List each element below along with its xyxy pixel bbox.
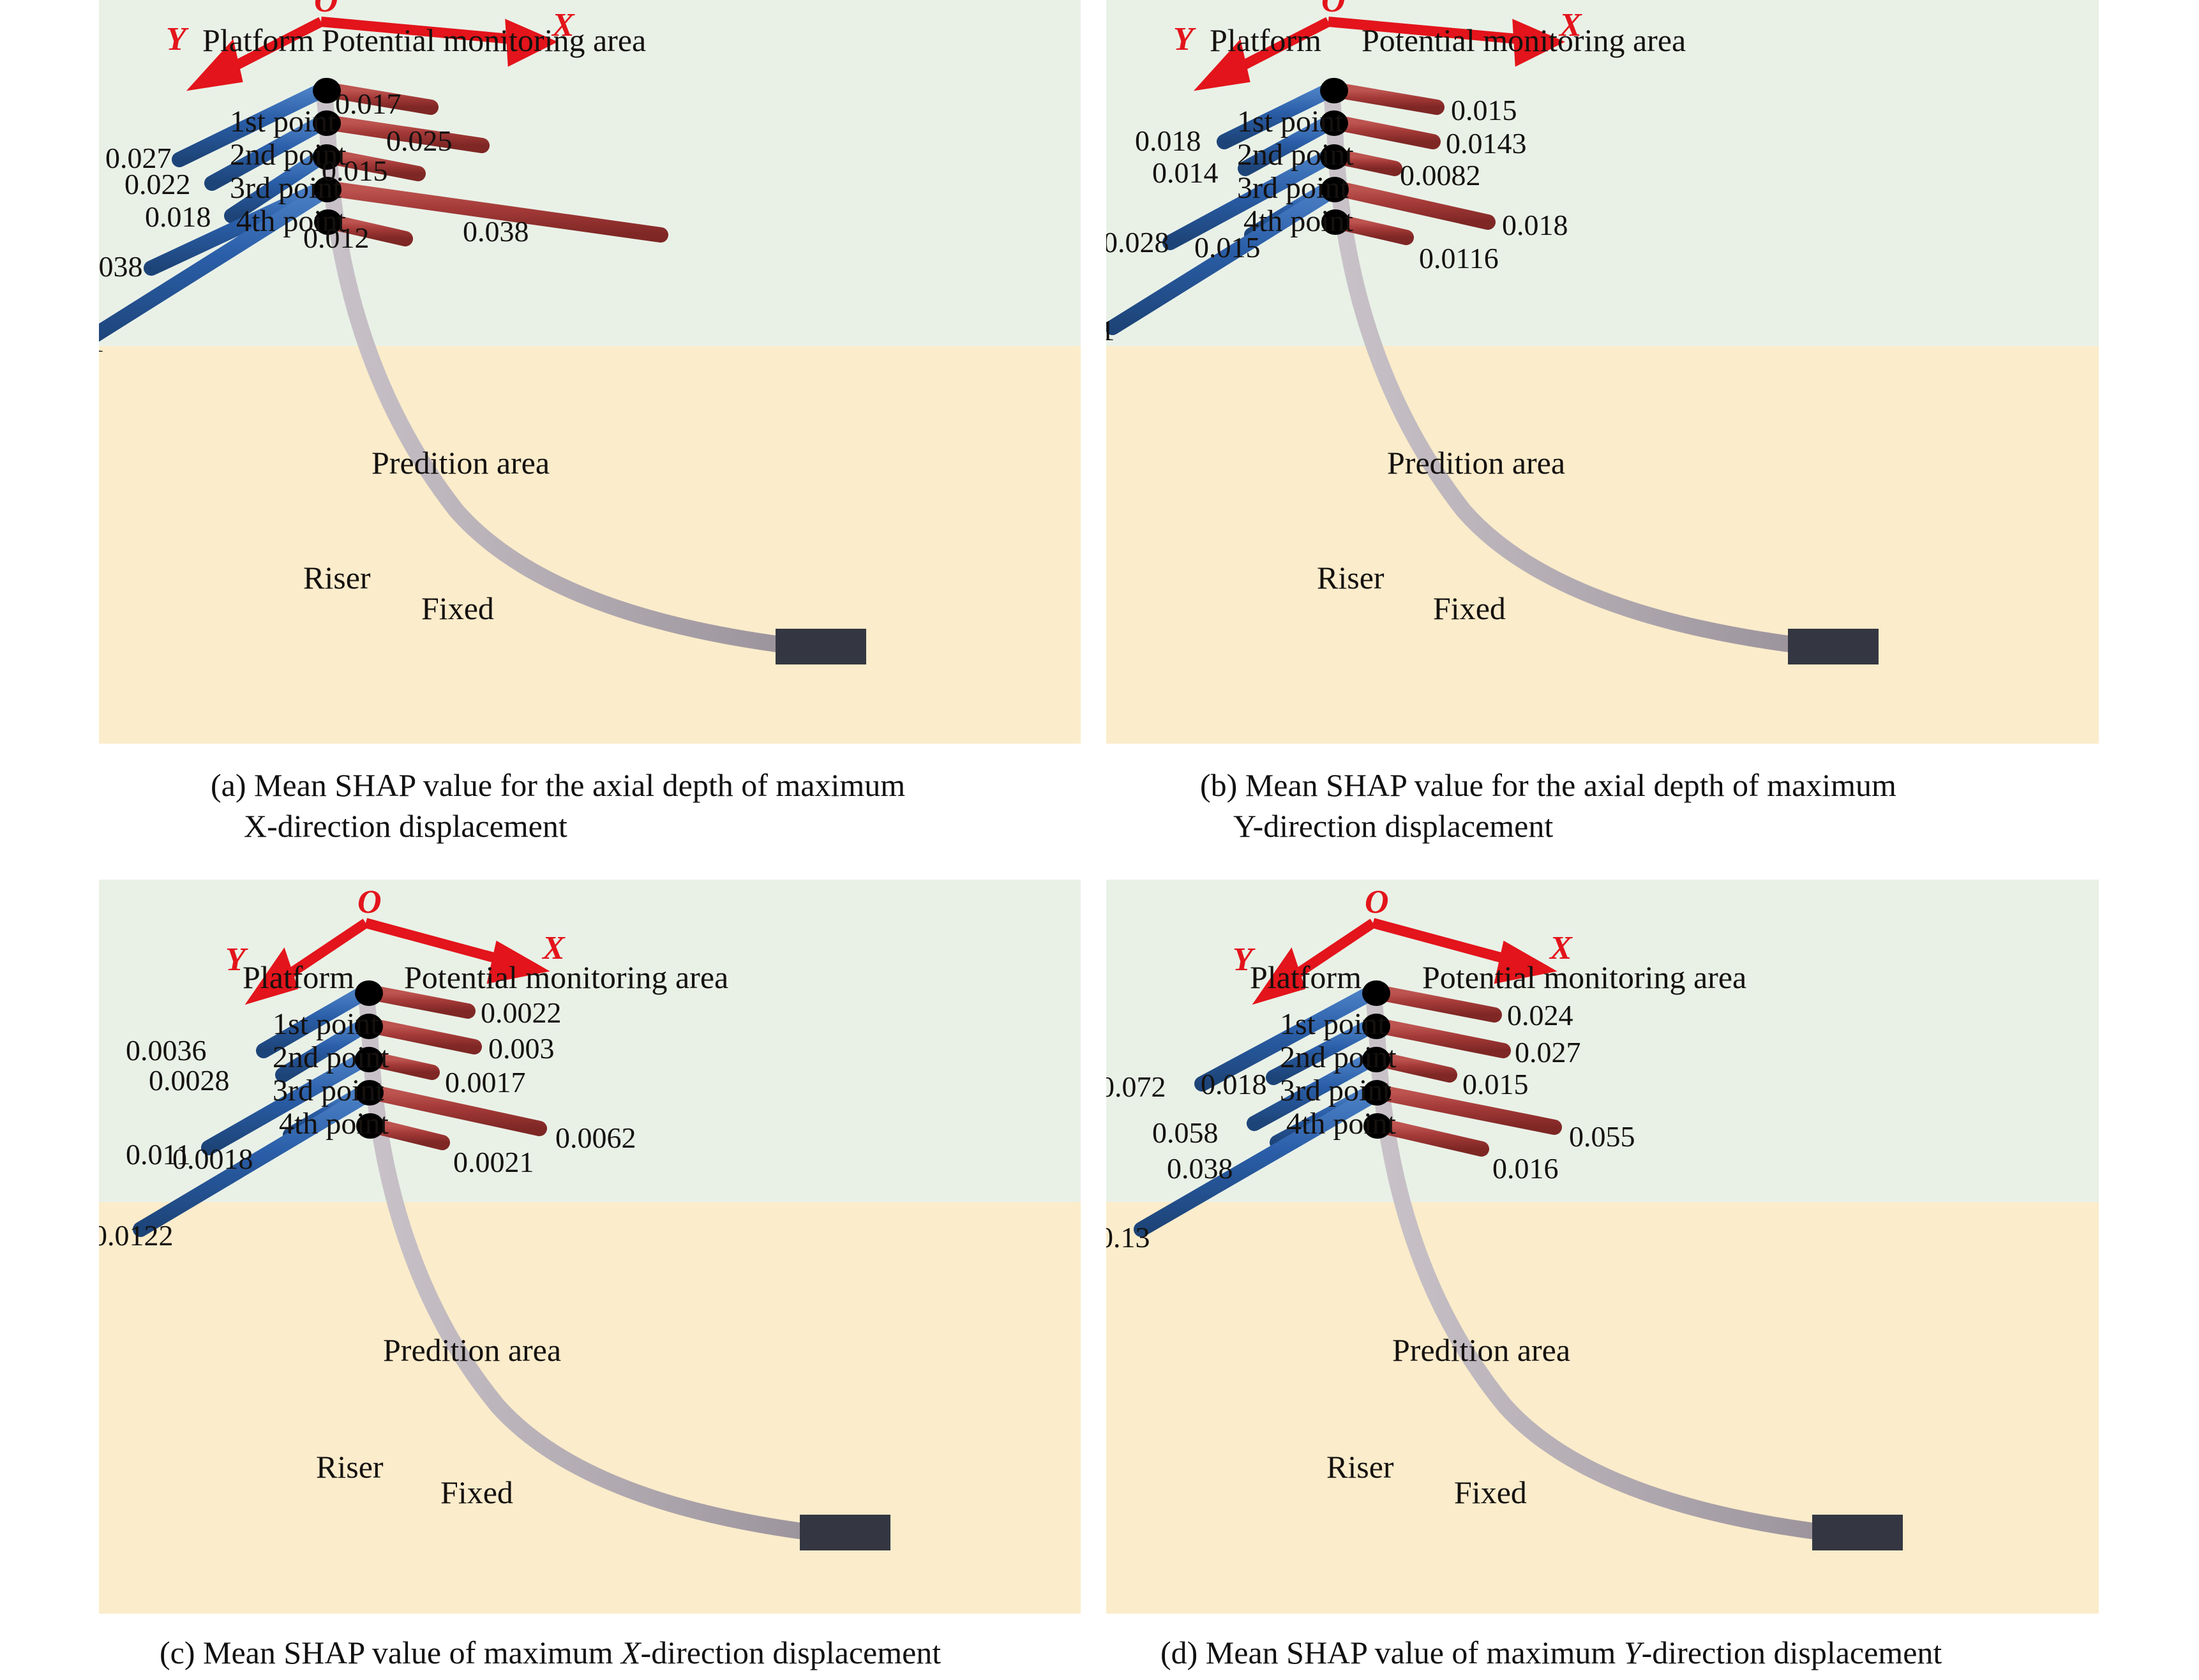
fixed-label-c: Fixed bbox=[440, 1476, 513, 1508]
caption-c-post: -direction displacement bbox=[641, 1635, 942, 1670]
blue-value-c-5: 0.0122 bbox=[99, 1221, 174, 1250]
red-value-b-3: 0.0082 bbox=[1400, 161, 1481, 190]
caption-d: (d) Mean SHAP value of maximum Y-directi… bbox=[1160, 1634, 1942, 1671]
platform-label-d: Platform bbox=[1250, 961, 1362, 993]
point-label-d-2: 2nd point bbox=[1280, 1042, 1397, 1073]
red-value-d-4: 0.055 bbox=[1569, 1122, 1635, 1151]
red-value-c-4: 0.0062 bbox=[555, 1123, 636, 1153]
red-value-a-2: 0.025 bbox=[386, 126, 453, 156]
point-label-d-4: 4th point bbox=[1286, 1109, 1396, 1139]
panel-a: O X Y Platform Potential monitoring area… bbox=[99, 0, 1081, 744]
monitoring-area-label-d: Potential monitoring area bbox=[1422, 961, 1746, 993]
red-value-b-2: 0.0143 bbox=[1446, 129, 1527, 158]
blue-value-a-3: 0.018 bbox=[145, 202, 211, 232]
prediction-area-label-c: Predition area bbox=[383, 1334, 561, 1366]
blue-value-b-2: 0.014 bbox=[1152, 158, 1219, 188]
caption-c-pre: (c) Mean SHAP value of maximum bbox=[160, 1635, 621, 1670]
riser-label-b: Riser bbox=[1317, 562, 1385, 594]
blue-value-d-5: 0.13 bbox=[1106, 1223, 1150, 1252]
caption-d-post: -direction displacement bbox=[1642, 1635, 1942, 1670]
riser-label-a: Riser bbox=[303, 562, 371, 594]
axis-origin-label-a: O bbox=[314, 0, 338, 18]
blue-value-d-1: 0.072 bbox=[1106, 1072, 1166, 1102]
caption-a-line2: X-direction displacement bbox=[211, 806, 905, 846]
blue-value-d-4: 0.038 bbox=[1167, 1154, 1233, 1183]
point-label-d-3: 3rd point bbox=[1280, 1076, 1392, 1106]
blue-value-c-4: 0.0018 bbox=[172, 1144, 253, 1174]
panel-c: O X Y Platform Potential monitoring area… bbox=[99, 880, 1081, 1614]
red-value-c-5: 0.0021 bbox=[453, 1148, 534, 1177]
blue-value-a-4: 0.038 bbox=[99, 252, 143, 281]
caption-b-line2: Y-direction displacement bbox=[1200, 806, 1896, 846]
red-value-a-5: 0.012 bbox=[303, 223, 370, 253]
fixed-label-a: Fixed bbox=[421, 592, 494, 624]
riser-label-d: Riser bbox=[1326, 1451, 1394, 1483]
blue-value-d-2: 0.018 bbox=[1201, 1070, 1267, 1099]
red-value-d-1: 0.024 bbox=[1507, 1001, 1573, 1030]
caption-a-axis-token: X bbox=[244, 808, 267, 844]
point-label-c-4: 4th point bbox=[279, 1109, 389, 1139]
fixed-label-b: Fixed bbox=[1433, 592, 1506, 624]
blue-value-a-5: 0.061 bbox=[99, 327, 105, 357]
point-label-c-1: 1st point bbox=[273, 1009, 379, 1040]
caption-b: (b) Mean SHAP value for the axial depth … bbox=[1200, 765, 1896, 846]
point-label-d-1: 1st point bbox=[1280, 1009, 1386, 1040]
point-label-c-2: 2nd point bbox=[273, 1042, 389, 1073]
fixed-block-b bbox=[1788, 629, 1879, 664]
point-label-a-1: 1st point bbox=[230, 107, 336, 137]
prediction-area-label-a: Predition area bbox=[372, 447, 550, 479]
point-label-b-3: 3rd point bbox=[1237, 173, 1349, 204]
red-value-a-1: 0.017 bbox=[335, 89, 402, 119]
blue-value-b-4: 0.015 bbox=[1194, 233, 1261, 262]
caption-a: (a) Mean SHAP value for the axial depth … bbox=[211, 765, 905, 846]
blue-value-c-2: 0.0028 bbox=[149, 1066, 230, 1095]
blue-value-d-3: 0.058 bbox=[1152, 1118, 1219, 1148]
red-value-a-4: 0.038 bbox=[463, 217, 529, 246]
prediction-area-label-b: Predition area bbox=[1387, 447, 1565, 479]
axis-y-label-b: Y bbox=[1173, 23, 1194, 56]
red-value-c-2: 0.003 bbox=[488, 1034, 555, 1063]
axis-origin-label-d: O bbox=[1365, 886, 1389, 919]
axis-origin-label-c: O bbox=[357, 886, 382, 919]
caption-b-line1: (b) Mean SHAP value for the axial depth … bbox=[1200, 765, 1896, 806]
monitoring-area-label-a: Potential monitoring area bbox=[322, 24, 646, 56]
caption-a-line2-rest: -direction displacement bbox=[267, 808, 567, 844]
caption-c: (c) Mean SHAP value of maximum X-directi… bbox=[160, 1634, 941, 1671]
point-label-b-2: 2nd point bbox=[1237, 140, 1354, 170]
platform-label-a: Platform bbox=[202, 24, 314, 56]
riser-label-c: Riser bbox=[316, 1451, 384, 1483]
point-label-c-3: 3rd point bbox=[273, 1076, 384, 1106]
red-value-c-1: 0.0022 bbox=[481, 998, 562, 1028]
blue-value-b-1: 0.018 bbox=[1135, 126, 1201, 156]
figure-root: O X Y Platform Potential monitoring area… bbox=[0, 0, 2199, 1680]
fixed-label-d: Fixed bbox=[1454, 1476, 1527, 1508]
fixed-block-d bbox=[1812, 1515, 1903, 1550]
prediction-area-label-d: Predition area bbox=[1392, 1334, 1570, 1366]
caption-d-pre: (d) Mean SHAP value of maximum bbox=[1160, 1635, 1624, 1670]
caption-a-line1: (a) Mean SHAP value for the axial depth … bbox=[211, 765, 905, 806]
red-value-d-5: 0.016 bbox=[1492, 1154, 1559, 1183]
red-value-b-5: 0.0116 bbox=[1419, 244, 1499, 273]
panel-d: O X Y Platform Potential monitoring area… bbox=[1106, 880, 2099, 1614]
monitoring-area-label-b: Potential monitoring area bbox=[1362, 24, 1686, 56]
fixed-block-c bbox=[800, 1515, 890, 1550]
blue-value-c-1: 0.0036 bbox=[126, 1036, 207, 1065]
panel-b: O X Y Platform Potential monitoring area… bbox=[1106, 0, 2099, 744]
red-value-b-4: 0.018 bbox=[1502, 211, 1568, 240]
axis-origin-label-b: O bbox=[1321, 0, 1346, 18]
red-value-a-3: 0.015 bbox=[322, 156, 388, 186]
blue-value-b-3: 0.028 bbox=[1106, 228, 1169, 257]
red-value-d-3: 0.015 bbox=[1462, 1070, 1529, 1099]
blue-value-b-5: 0.041 bbox=[1106, 316, 1115, 345]
caption-d-axis-token: Y bbox=[1624, 1635, 1642, 1670]
red-value-b-1: 0.015 bbox=[1451, 96, 1517, 125]
caption-c-axis-token: X bbox=[621, 1635, 641, 1670]
red-value-c-3: 0.0017 bbox=[445, 1068, 526, 1097]
point-label-b-1: 1st point bbox=[1237, 107, 1344, 137]
axis-y-label-a: Y bbox=[166, 23, 186, 56]
blue-value-a-2: 0.022 bbox=[124, 170, 191, 199]
red-value-d-2: 0.027 bbox=[1515, 1038, 1581, 1067]
monitoring-area-label-c: Potential monitoring area bbox=[404, 961, 728, 993]
fixed-block-a bbox=[776, 629, 866, 664]
caption-b-axis-token: Y bbox=[1233, 808, 1253, 844]
platform-label-c: Platform bbox=[243, 961, 354, 993]
platform-label-b: Platform bbox=[1210, 24, 1321, 56]
caption-b-line2-rest: -direction displacement bbox=[1253, 808, 1554, 844]
